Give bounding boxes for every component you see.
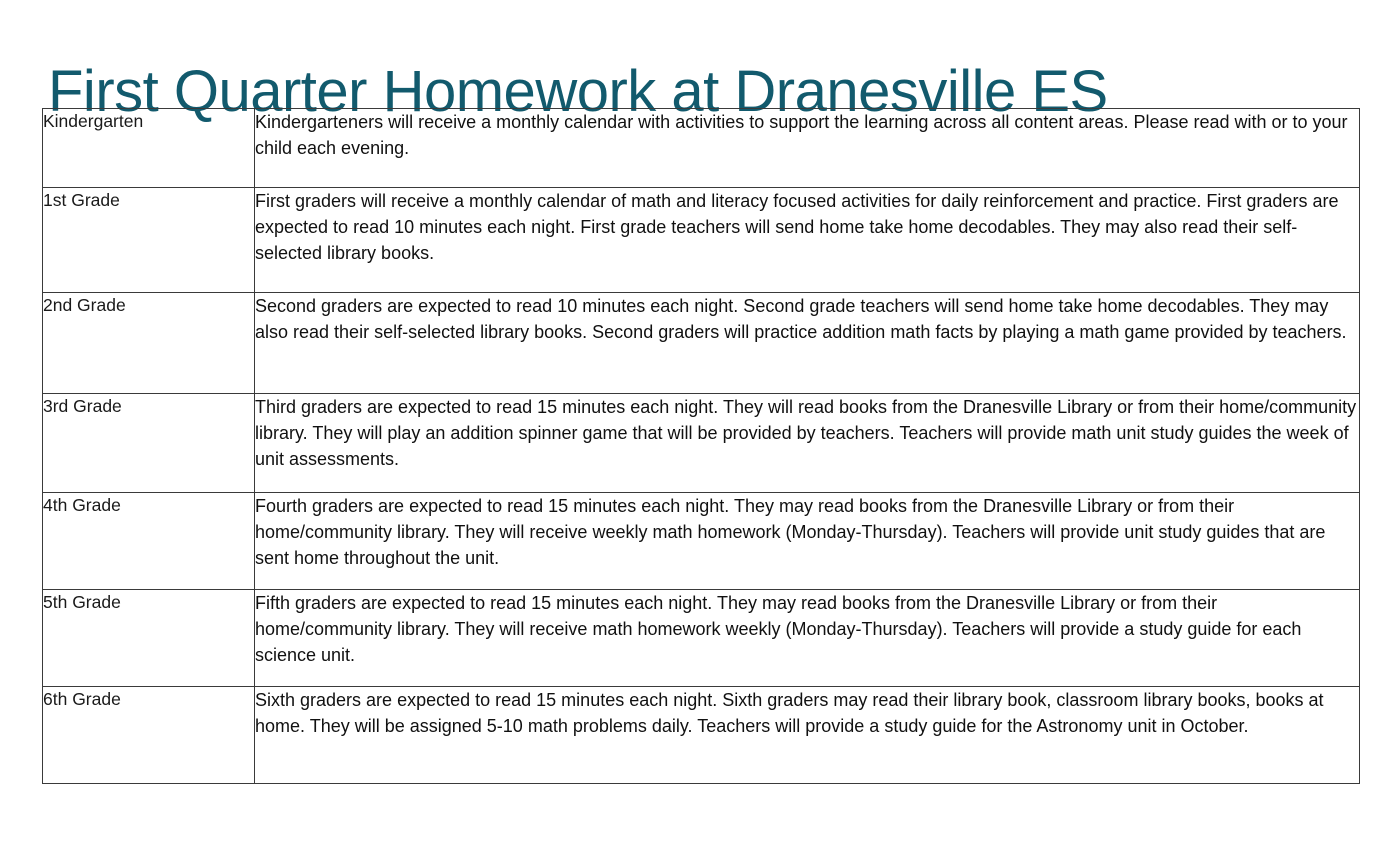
table-row: 4th Grade Fourth graders are expected to…: [43, 493, 1360, 590]
document-page: First Quarter Homework at Dranesville ES…: [0, 0, 1400, 863]
homework-table: Kindergarten Kindergarteners will receiv…: [42, 108, 1360, 784]
grade-cell: 1st Grade: [43, 188, 255, 293]
table-row: 6th Grade Sixth graders are expected to …: [43, 687, 1360, 784]
description-cell: Kindergarteners will receive a monthly c…: [255, 109, 1360, 188]
table-row: 2nd Grade Second graders are expected to…: [43, 293, 1360, 394]
table-row: 5th Grade Fifth graders are expected to …: [43, 590, 1360, 687]
grade-cell: 5th Grade: [43, 590, 255, 687]
homework-table-body: Kindergarten Kindergarteners will receiv…: [43, 109, 1360, 784]
grade-cell: 3rd Grade: [43, 394, 255, 493]
table-row: 3rd Grade Third graders are expected to …: [43, 394, 1360, 493]
description-cell: Second graders are expected to read 10 m…: [255, 293, 1360, 394]
table-row: 1st Grade First graders will receive a m…: [43, 188, 1360, 293]
description-cell: Sixth graders are expected to read 15 mi…: [255, 687, 1360, 784]
grade-cell: 2nd Grade: [43, 293, 255, 394]
table-row: Kindergarten Kindergarteners will receiv…: [43, 109, 1360, 188]
grade-cell: 4th Grade: [43, 493, 255, 590]
grade-cell: Kindergarten: [43, 109, 255, 188]
description-cell: First graders will receive a monthly cal…: [255, 188, 1360, 293]
description-cell: Third graders are expected to read 15 mi…: [255, 394, 1360, 493]
description-cell: Fourth graders are expected to read 15 m…: [255, 493, 1360, 590]
grade-cell: 6th Grade: [43, 687, 255, 784]
description-cell: Fifth graders are expected to read 15 mi…: [255, 590, 1360, 687]
